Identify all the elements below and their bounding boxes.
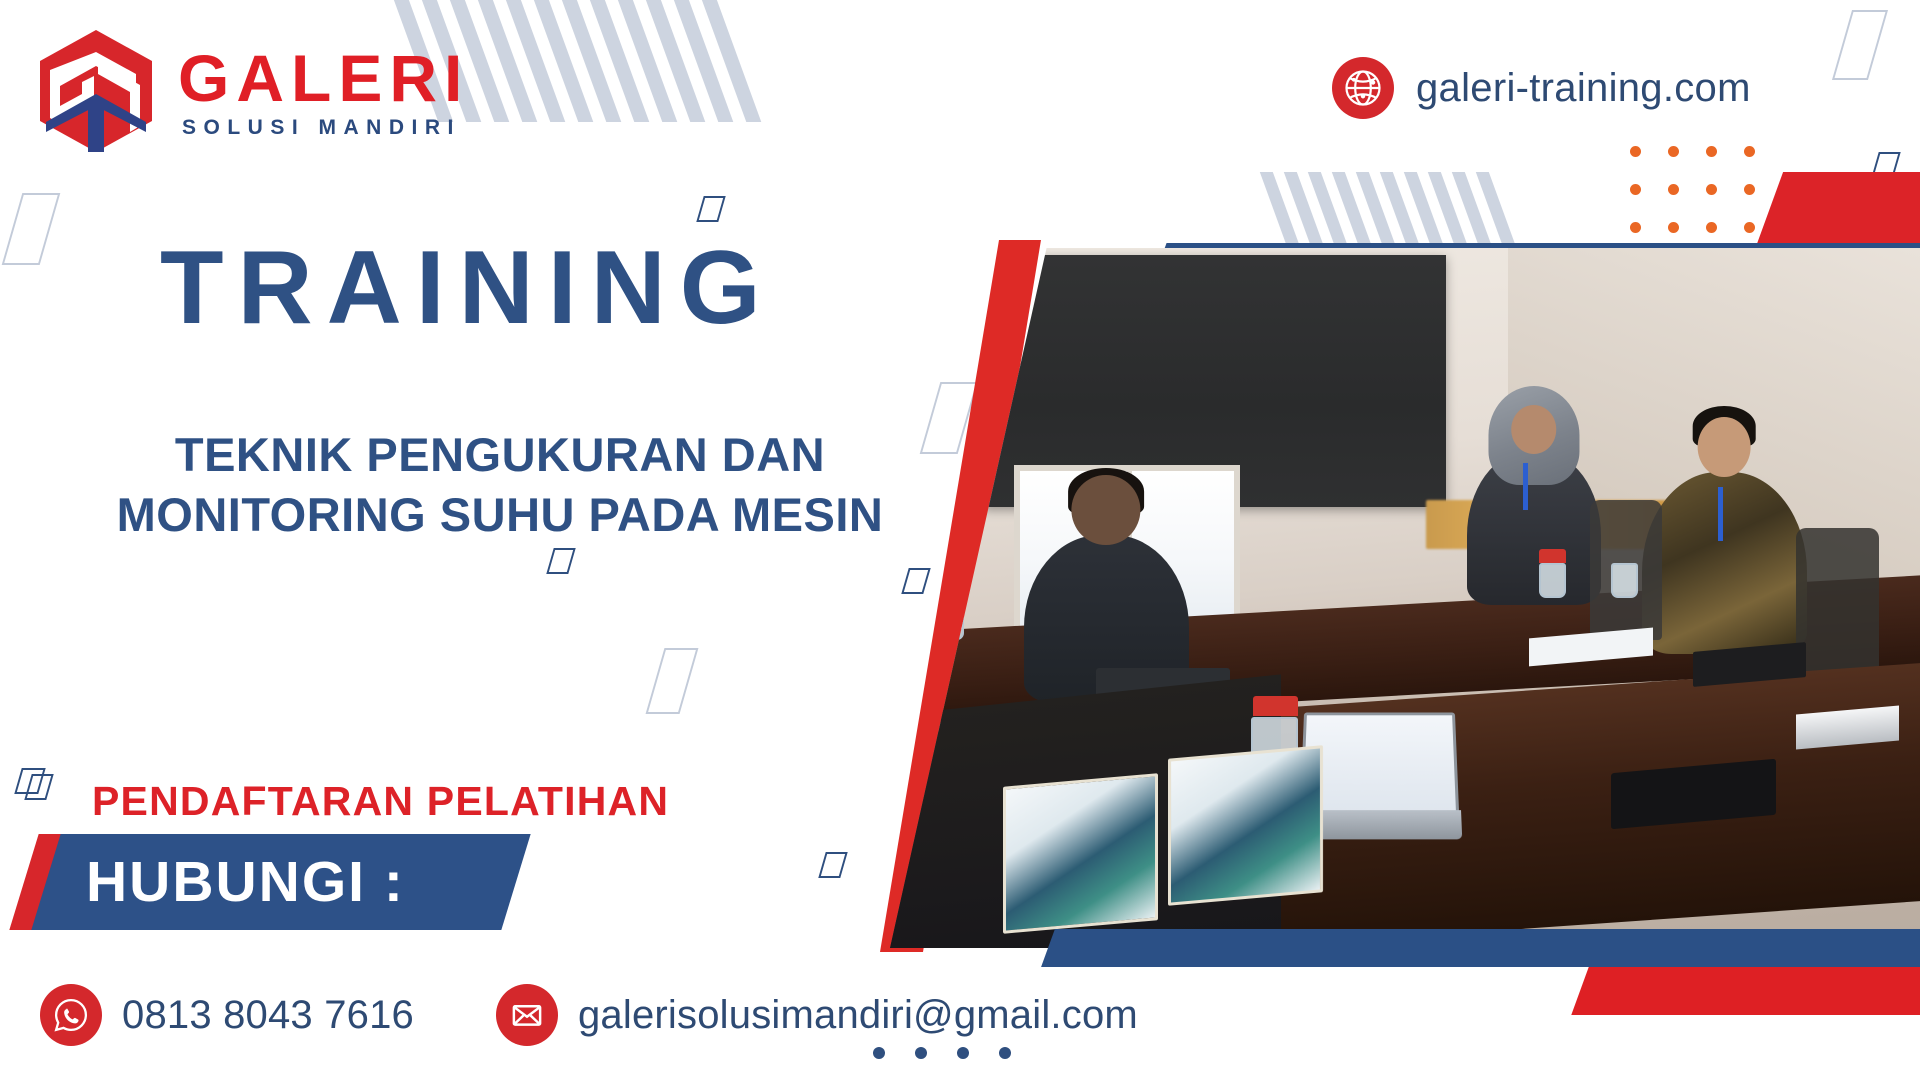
page-subtitle: TEKNIK PENGUKURAN DAN MONITORING SUHU PA… — [60, 425, 940, 545]
blue-bar-decor-below-photo — [1041, 929, 1920, 967]
person-participant-2 — [1642, 472, 1807, 654]
logo-subtitle: SOLUSI MANDIRI — [182, 117, 469, 138]
email-icon — [496, 984, 558, 1046]
contact-banner-label: HUBUNGI : — [86, 849, 405, 915]
globe-icon — [1332, 57, 1394, 119]
red-bar-decor-bottom-right — [1571, 967, 1920, 1015]
contact-phone-text: 0813 8043 7616 — [122, 993, 414, 1038]
red-block-decor-top-right — [1757, 172, 1920, 244]
registration-label: PENDAFTARAN PELATIHAN — [92, 778, 669, 825]
website-link[interactable]: galeri-training.com — [1332, 57, 1751, 119]
parallelogram-decor-7 — [646, 648, 699, 714]
brand-logo[interactable]: GALERI SOLUSI MANDIRI — [36, 28, 469, 154]
contact-email-text: galerisolusimandiri@gmail.com — [578, 993, 1138, 1038]
training-room-photo — [890, 248, 1920, 948]
parallelogram-decor-5 — [546, 548, 575, 574]
whatsapp-icon — [40, 984, 102, 1046]
contact-email[interactable]: galerisolusimandiri@gmail.com — [496, 984, 1138, 1046]
laptop-foreground — [1300, 713, 1459, 816]
parallelogram-decor-10 — [1832, 10, 1888, 80]
poster-canvas: GALERI SOLUSI MANDIRI galeri-training.co… — [0, 0, 1920, 1080]
parallelogram-decor-6 — [901, 568, 930, 594]
logo-title: GALERI — [178, 45, 469, 111]
contact-row: 0813 8043 7616 galerisolusimandiri@gmail… — [40, 984, 1138, 1046]
parallelogram-decor-1 — [2, 193, 61, 265]
brochure-2 — [1168, 745, 1323, 906]
parallelogram-decor-8 — [818, 852, 847, 878]
parallelogram-decor-3 — [696, 196, 725, 222]
page-title-training: TRAINING — [160, 236, 775, 340]
brochure-1 — [1003, 773, 1158, 934]
galeri-hexagon-logo-icon — [36, 28, 156, 154]
contact-phone[interactable]: 0813 8043 7616 — [40, 984, 414, 1046]
website-url-text: galeri-training.com — [1416, 66, 1751, 111]
person-participant-1 — [1467, 451, 1601, 605]
